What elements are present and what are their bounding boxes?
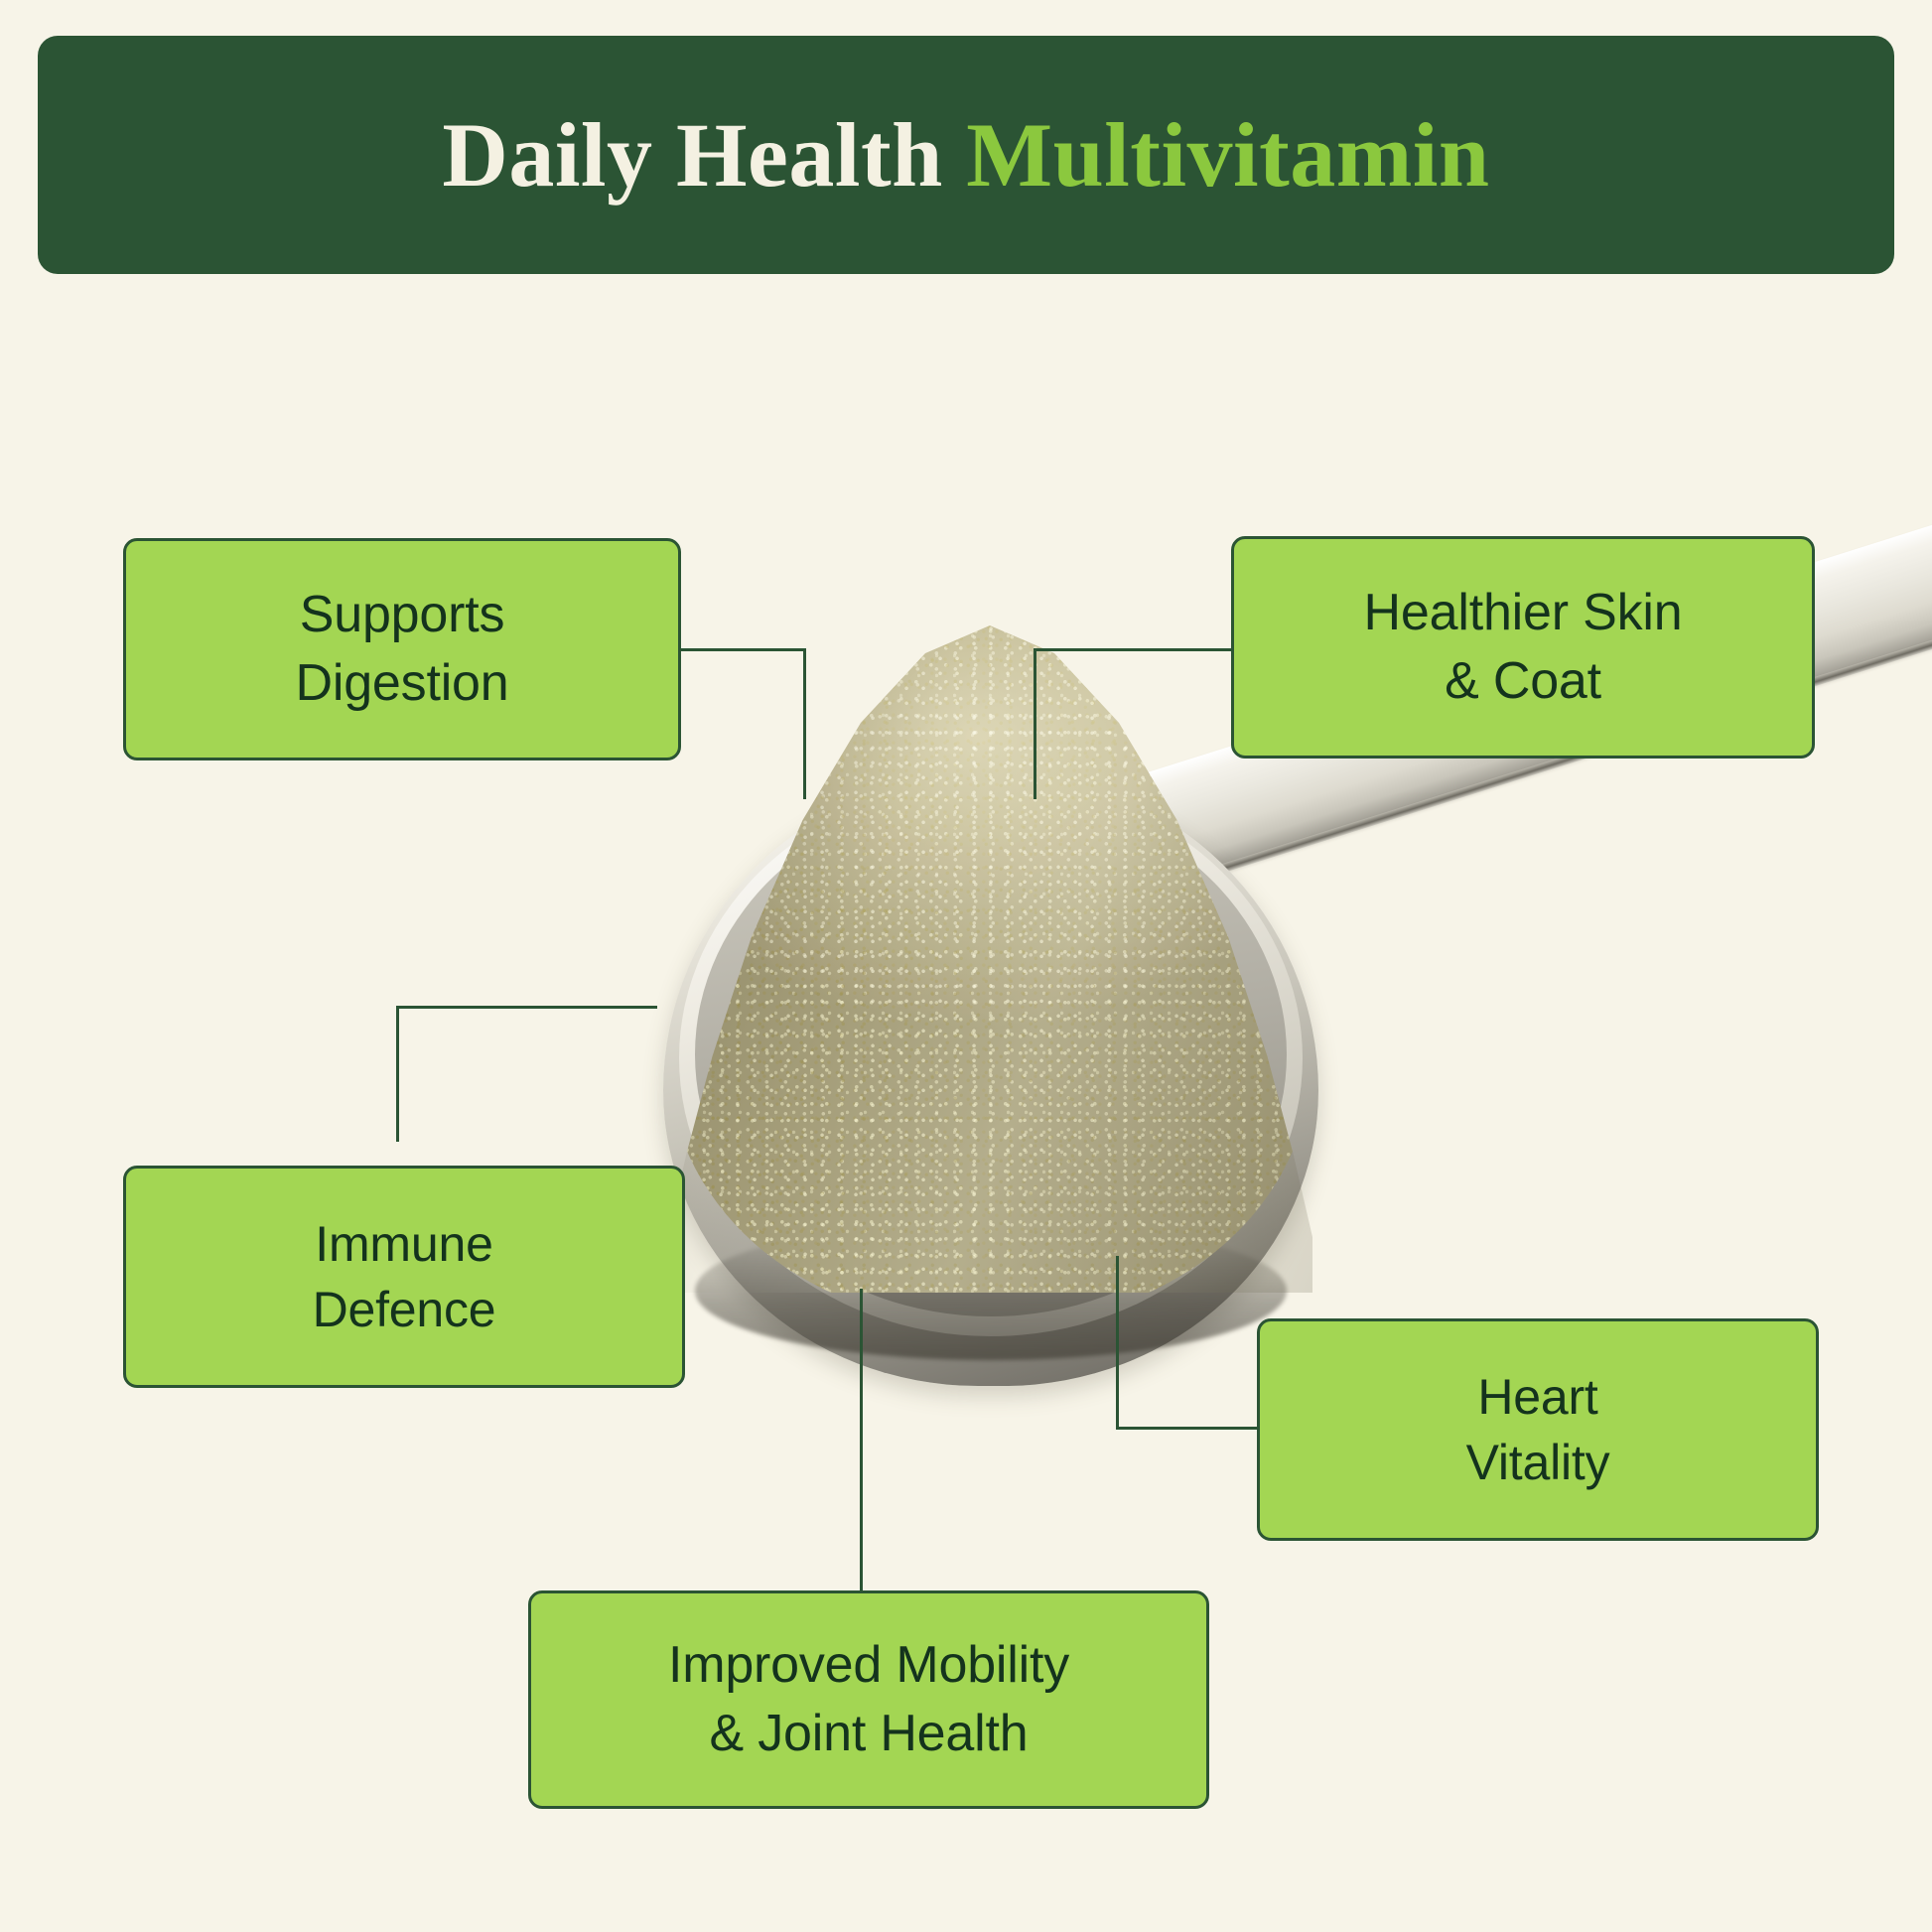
benefit-label-healthier-skin-coat: Healthier Skin & Coat <box>1364 579 1683 715</box>
powder-shading <box>667 625 1312 1320</box>
benefit-label-immune-defence: Immune Defence <box>313 1211 496 1342</box>
infographic-canvas: Daily Health Multivitamin Supports Diges… <box>0 0 1932 1932</box>
connector-healthier-skin-horizontal <box>1034 648 1231 651</box>
connector-improved-mobility-vertical <box>860 1289 863 1590</box>
connector-supports-digestion-horizontal <box>679 648 806 651</box>
benefit-box-heart-vitality[interactable]: Heart Vitality <box>1257 1318 1819 1541</box>
benefit-box-improved-mobility[interactable]: Improved Mobility & Joint Health <box>528 1590 1209 1809</box>
page-title: Daily Health Multivitamin <box>442 109 1489 201</box>
benefit-box-healthier-skin-coat[interactable]: Healthier Skin & Coat <box>1231 536 1815 759</box>
title-accent: Multivitamin <box>966 104 1489 206</box>
connector-heart-vitality-vertical <box>1116 1256 1119 1430</box>
connector-immune-defence-horizontal <box>396 1006 657 1009</box>
title-primary: Daily Health <box>442 104 966 206</box>
header-banner: Daily Health Multivitamin <box>38 36 1894 274</box>
benefit-label-improved-mobility: Improved Mobility & Joint Health <box>668 1631 1069 1767</box>
benefit-label-supports-digestion: Supports Digestion <box>296 581 509 717</box>
benefit-label-heart-vitality: Heart Vitality <box>1466 1364 1610 1495</box>
connector-supports-digestion-vertical <box>803 648 806 799</box>
benefit-box-immune-defence[interactable]: Immune Defence <box>123 1166 685 1388</box>
connector-healthier-skin-vertical <box>1034 648 1036 799</box>
connector-heart-vitality-horizontal <box>1116 1427 1260 1430</box>
benefit-box-supports-digestion[interactable]: Supports Digestion <box>123 538 681 760</box>
connector-immune-defence-vertical <box>396 1006 399 1142</box>
